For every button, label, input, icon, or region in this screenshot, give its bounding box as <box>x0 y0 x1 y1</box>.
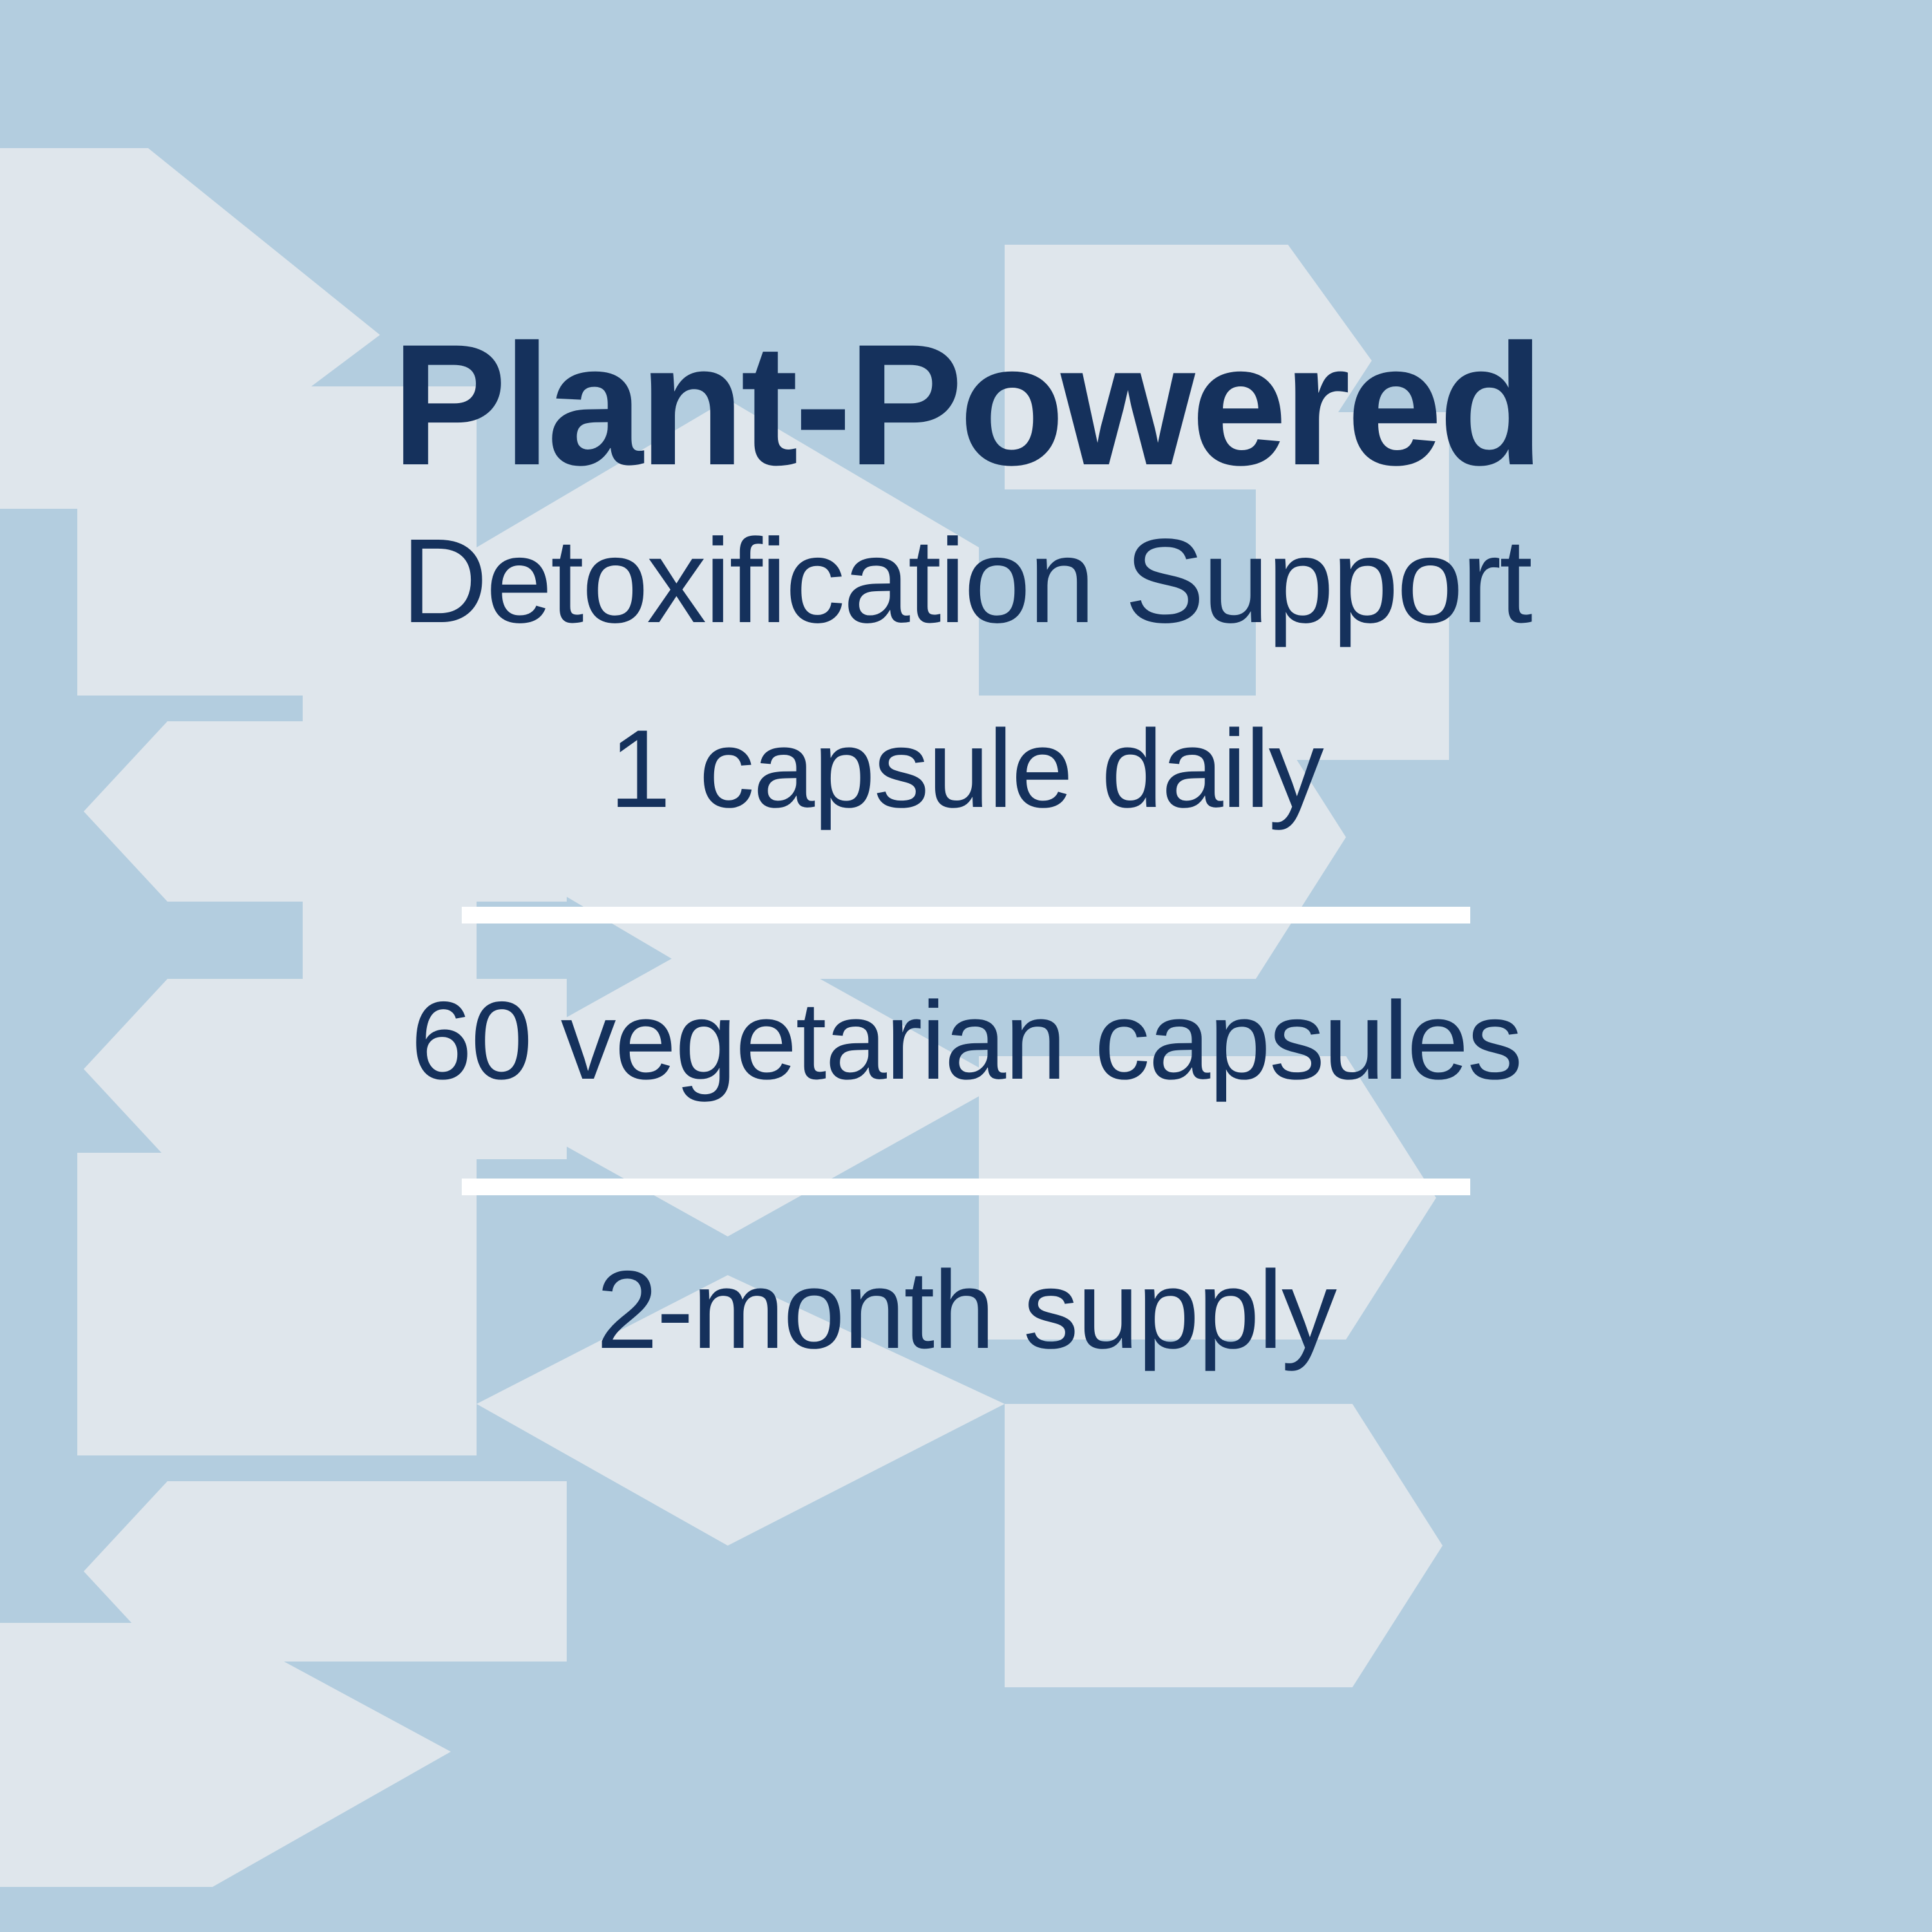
divider-1 <box>462 907 1470 923</box>
divider-2 <box>462 1179 1470 1195</box>
fact-dosage: 1 capsule daily <box>609 714 1323 824</box>
card-content: Plant-Powered Detoxification Support 1 c… <box>0 0 1932 1932</box>
page-title: Plant-Powered <box>392 318 1540 491</box>
fact-supply-duration: 2-month supply <box>596 1255 1336 1365</box>
product-feature-card: Plant-Powered Detoxification Support 1 c… <box>0 0 1932 1932</box>
fact-capsule-count: 60 vegetarian capsules <box>411 985 1522 1096</box>
page-subtitle: Detoxification Support <box>401 522 1531 641</box>
